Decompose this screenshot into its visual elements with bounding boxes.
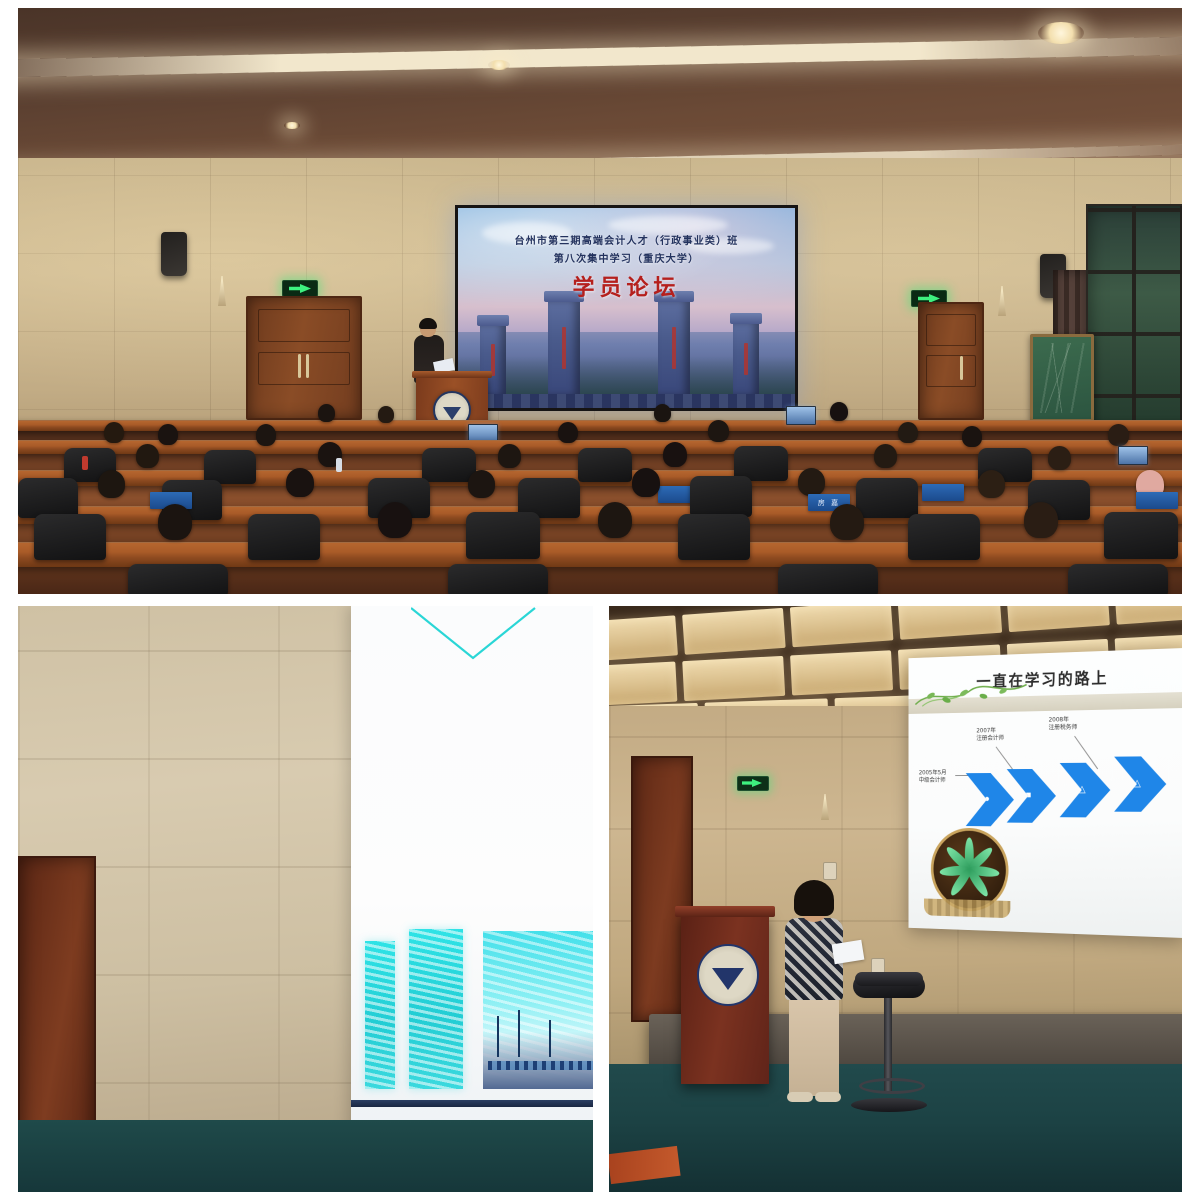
ceiling-panel bbox=[609, 662, 677, 707]
audience-head bbox=[898, 422, 918, 443]
audience-head bbox=[830, 402, 848, 421]
audience-head bbox=[256, 424, 276, 446]
milestone-year: 2005年5月 bbox=[919, 770, 947, 777]
ceiling-panel bbox=[1113, 606, 1182, 625]
chair[interactable] bbox=[34, 514, 106, 560]
audience-head bbox=[1024, 502, 1058, 538]
ceiling-panel bbox=[682, 656, 785, 701]
desk-row bbox=[18, 420, 1182, 431]
chair[interactable] bbox=[1104, 512, 1178, 559]
stool-footrest bbox=[859, 1078, 925, 1094]
name-card bbox=[1136, 492, 1178, 509]
exit-sign bbox=[737, 776, 769, 791]
presenter bbox=[781, 878, 847, 1114]
exit-arrow-icon bbox=[289, 284, 311, 293]
chair[interactable] bbox=[448, 564, 548, 594]
ceiling-light-strip bbox=[18, 36, 1182, 79]
chair[interactable] bbox=[578, 448, 632, 482]
presenter-hair bbox=[794, 880, 834, 916]
chair[interactable] bbox=[248, 514, 320, 560]
photo-tree bbox=[497, 1016, 499, 1057]
ceiling-panel bbox=[1005, 606, 1109, 632]
photo-collage: 台州市第三期高端会计人才（行政事业类）班 第八次集中学习（重庆大学） 学员论坛 bbox=[0, 0, 1200, 1200]
graduation-cap-icon: △ bbox=[1076, 784, 1087, 796]
graduation-cap-icon: △ bbox=[1131, 778, 1143, 790]
screen-bottom-frame bbox=[351, 1100, 593, 1107]
audience-head bbox=[498, 444, 521, 468]
milestone-year: 2007年 bbox=[976, 727, 996, 734]
slide-foreground bbox=[458, 394, 795, 408]
laptop-screen bbox=[1118, 446, 1148, 465]
audience-head bbox=[798, 468, 825, 496]
audience-head bbox=[104, 422, 124, 443]
audience-head bbox=[378, 406, 394, 423]
chair[interactable] bbox=[422, 448, 476, 482]
audience-head bbox=[1048, 446, 1071, 470]
audience-head bbox=[98, 470, 125, 498]
audience-head bbox=[632, 468, 660, 497]
timeline-arrow-1: ● bbox=[966, 773, 1014, 827]
side-door[interactable] bbox=[18, 856, 96, 1160]
cyan-chevron-icon bbox=[411, 606, 591, 666]
door-handle-icon bbox=[306, 354, 309, 378]
chair[interactable] bbox=[678, 514, 750, 560]
exit-sign-left bbox=[282, 280, 318, 297]
chalkboard bbox=[1030, 334, 1094, 422]
audience-head bbox=[654, 404, 671, 422]
presenter-shoe bbox=[815, 1092, 841, 1102]
projection-screen bbox=[351, 606, 593, 1141]
audience-head bbox=[378, 502, 412, 538]
presenter-trousers bbox=[789, 996, 839, 1096]
stool-base bbox=[851, 1098, 927, 1112]
timeline-arrow-4: △ bbox=[1114, 756, 1166, 812]
gate-pillar bbox=[733, 322, 759, 396]
milestone-year: 2008年 bbox=[1049, 716, 1069, 723]
door-left[interactable] bbox=[246, 296, 362, 420]
audience-head bbox=[1108, 424, 1129, 446]
stool-backrest bbox=[855, 972, 923, 986]
audience-head bbox=[158, 504, 192, 540]
leader-line bbox=[996, 747, 1016, 773]
floor-carpet bbox=[18, 1120, 593, 1192]
audience-head bbox=[874, 444, 897, 468]
audience-head bbox=[158, 424, 178, 445]
chair[interactable] bbox=[908, 514, 980, 560]
chair[interactable] bbox=[204, 450, 256, 484]
panel-presenter-closeup: 重庆大学 1929 CHONGQING UNIVERSITY bbox=[18, 606, 593, 1192]
ceiling-panel bbox=[898, 606, 1002, 640]
chongqing-university-seal bbox=[697, 944, 759, 1006]
pillar-inscription bbox=[672, 327, 676, 369]
speaker-hair bbox=[419, 318, 437, 329]
name-card bbox=[922, 484, 964, 501]
water-bottle bbox=[336, 458, 342, 472]
audience-head bbox=[468, 470, 495, 498]
laptop-screen bbox=[786, 406, 816, 425]
door-handle-icon bbox=[298, 354, 301, 378]
podium-top-surface bbox=[675, 906, 775, 917]
milestone-credential: 注册会计师 bbox=[976, 735, 1004, 742]
gate-pillar bbox=[658, 300, 690, 396]
water-bottle bbox=[82, 456, 88, 470]
projection-screen: 一直在学习的路上 2005年5月 中级会计师 2007年 注册会计师 2008年 bbox=[909, 648, 1182, 938]
photo-railing bbox=[488, 1061, 593, 1070]
wall-speaker-icon bbox=[161, 232, 187, 276]
door-handle-icon bbox=[960, 356, 963, 380]
chair[interactable] bbox=[856, 478, 918, 518]
chair[interactable] bbox=[778, 564, 878, 594]
timeline-arrow-3: △ bbox=[1060, 763, 1111, 818]
stool[interactable] bbox=[853, 974, 925, 1144]
milestone-credential: 中级会计师 bbox=[919, 777, 946, 784]
panel-presenter-with-slide: 一直在学习的路上 2005年5月 中级会计师 2007年 注册会计师 2008年 bbox=[609, 606, 1182, 1192]
slide-bar-small bbox=[365, 941, 395, 1089]
slide-main-title: 学员论坛 bbox=[458, 270, 795, 302]
pillar-inscription bbox=[744, 343, 748, 376]
audience-head bbox=[558, 422, 578, 443]
presenter-shoe bbox=[787, 1092, 813, 1102]
audience-head bbox=[978, 470, 1005, 498]
door-right[interactable] bbox=[918, 302, 984, 420]
audience-head bbox=[598, 502, 632, 538]
ceiling-panel bbox=[682, 608, 786, 655]
ceiling-downlight bbox=[488, 60, 510, 70]
led-stage-screen: 台州市第三期高端会计人才（行政事业类）班 第八次集中学习（重庆大学） 学员论坛 bbox=[455, 205, 798, 411]
slide-photo-block bbox=[483, 931, 593, 1089]
audience-head bbox=[962, 426, 982, 447]
milestone-label-4: 2008年 注册税务师 bbox=[1049, 716, 1078, 733]
audience-head bbox=[318, 404, 335, 422]
audience-head bbox=[136, 444, 159, 468]
ceiling-panel bbox=[790, 650, 893, 695]
chair[interactable] bbox=[18, 478, 78, 518]
timeline-arrow-2: ■ bbox=[1007, 769, 1056, 823]
ceiling-downlight bbox=[1038, 22, 1084, 44]
ceiling-downlight bbox=[284, 122, 300, 129]
chair[interactable] bbox=[128, 564, 228, 594]
audience-head bbox=[663, 442, 687, 467]
vine-decoration-icon bbox=[914, 678, 1047, 708]
exit-arrow-icon bbox=[742, 779, 762, 787]
panel-lecture-hall-wide: 台州市第三期高端会计人才（行政事业类）班 第八次集中学习（重庆大学） 学员论坛 bbox=[18, 8, 1182, 594]
pillar-inscription bbox=[562, 327, 566, 369]
ceiling-panel bbox=[609, 615, 678, 662]
chair[interactable] bbox=[1068, 564, 1168, 594]
book-icon: ■ bbox=[1023, 790, 1034, 802]
photo-tree bbox=[518, 1010, 520, 1057]
chalk-writing bbox=[1039, 343, 1085, 413]
gate-pillar bbox=[548, 300, 580, 396]
audience-head bbox=[708, 420, 729, 442]
milestone-credential: 注册税务师 bbox=[1049, 724, 1078, 731]
milestone-label-1: 2005年5月 中级会计师 bbox=[919, 770, 947, 786]
pin-icon: ● bbox=[982, 794, 993, 805]
photo-tree bbox=[549, 1020, 551, 1058]
plant-decorative-base bbox=[924, 898, 1010, 918]
chair[interactable] bbox=[466, 512, 540, 559]
milestone-label-2: 2007年 注册会计师 bbox=[976, 727, 1004, 743]
slide-subtitle-line2: 第八次集中学习（重庆大学） bbox=[458, 250, 795, 265]
slide-subtitle-line1: 台州市第三期高端会计人才（行政事业类）班 bbox=[458, 232, 795, 247]
chair[interactable] bbox=[690, 476, 752, 517]
audience-head bbox=[286, 468, 314, 497]
ceiling-panel bbox=[790, 606, 894, 647]
slide-bar-medium bbox=[409, 929, 463, 1089]
audience-head bbox=[830, 504, 864, 540]
